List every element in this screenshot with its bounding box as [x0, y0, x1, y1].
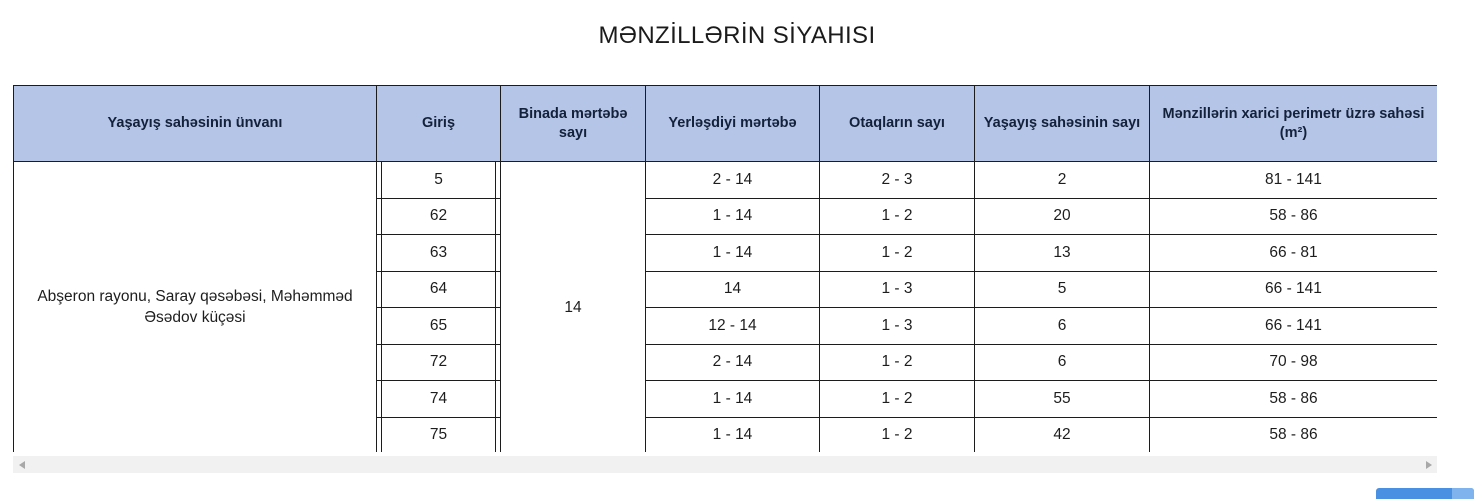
entry-value: 5 — [381, 161, 496, 199]
cell-entry: 72 — [377, 344, 501, 381]
cell-room-count: 2 - 3 — [820, 162, 975, 199]
cell-room-count: 1 - 2 — [820, 344, 975, 381]
cell-unit-count: 20 — [975, 198, 1150, 235]
scroll-left-arrow-icon[interactable] — [13, 456, 30, 473]
column-header-address[interactable]: Yaşayış sahəsinin ünvanı — [14, 86, 377, 162]
entry-value: 72 — [381, 344, 496, 382]
cell-located-floor: 14 — [646, 271, 820, 308]
cell-entry: 5 — [377, 162, 501, 199]
cell-room-count: 1 - 3 — [820, 271, 975, 308]
entry-value: 75 — [381, 417, 496, 453]
cell-outer-area: 66 - 141 — [1150, 271, 1438, 308]
cell-unit-count: 6 — [975, 344, 1150, 381]
cell-unit-count: 2 — [975, 162, 1150, 199]
entry-value: 74 — [381, 380, 496, 418]
cell-located-floor: 2 - 14 — [646, 162, 820, 199]
cell-unit-count: 6 — [975, 308, 1150, 345]
cell-room-count: 1 - 2 — [820, 235, 975, 272]
entry-value: 62 — [381, 198, 496, 236]
cell-building-floors: 14 — [501, 162, 646, 453]
cell-entry: 65 — [377, 308, 501, 345]
table-header-row: Yaşayış sahəsinin ünvanı Giriş Binada mə… — [14, 86, 1438, 162]
cell-unit-count: 5 — [975, 271, 1150, 308]
cell-located-floor: 2 - 14 — [646, 344, 820, 381]
cell-room-count: 1 - 2 — [820, 198, 975, 235]
entry-value: 65 — [381, 307, 496, 345]
table-header: Yaşayış sahəsinin ünvanı Giriş Binada mə… — [14, 86, 1438, 162]
scrollbar-thumb[interactable] — [30, 456, 1420, 473]
cell-located-floor: 1 - 14 — [646, 381, 820, 418]
cell-located-floor: 12 - 14 — [646, 308, 820, 345]
column-header-located-floor[interactable]: Yerləşdiyi mərtəbə — [646, 86, 820, 162]
table-row[interactable]: Abşeron rayonu, Saray qəsəbəsi, Məhəmməd… — [14, 162, 1438, 199]
primary-action-button[interactable] — [1376, 488, 1474, 499]
cell-outer-area: 81 - 141 — [1150, 162, 1438, 199]
entry-value: 64 — [381, 271, 496, 309]
cell-unit-count: 42 — [975, 417, 1150, 452]
cell-room-count: 1 - 2 — [820, 381, 975, 418]
table-body: Abşeron rayonu, Saray qəsəbəsi, Məhəmməd… — [14, 162, 1438, 453]
cell-room-count: 1 - 3 — [820, 308, 975, 345]
scroll-right-arrow-icon[interactable] — [1420, 456, 1437, 473]
cell-unit-count: 13 — [975, 235, 1150, 272]
horizontal-scrollbar[interactable] — [13, 455, 1437, 473]
cell-entry: 62 — [377, 198, 501, 235]
cell-outer-area: 66 - 141 — [1150, 308, 1438, 345]
cell-outer-area: 58 - 86 — [1150, 417, 1438, 452]
cell-located-floor: 1 - 14 — [646, 198, 820, 235]
cell-room-count: 1 - 2 — [820, 417, 975, 452]
column-header-unit-count[interactable]: Yaşayış sahəsinin sayı — [975, 86, 1150, 162]
cell-located-floor: 1 - 14 — [646, 235, 820, 272]
column-header-entry[interactable]: Giriş — [377, 86, 501, 162]
column-header-building-floors[interactable]: Binada mərtəbə sayı — [501, 86, 646, 162]
cell-located-floor: 1 - 14 — [646, 417, 820, 452]
cell-entry: 63 — [377, 235, 501, 272]
cell-unit-count: 55 — [975, 381, 1150, 418]
cell-outer-area: 66 - 81 — [1150, 235, 1438, 272]
column-header-room-count[interactable]: Otaqların sayı — [820, 86, 975, 162]
cell-address: Abşeron rayonu, Saray qəsəbəsi, Məhəmməd… — [14, 162, 377, 453]
table-scroll-viewport[interactable]: Yaşayış sahəsinin ünvanı Giriş Binada mə… — [13, 85, 1437, 452]
apartments-table: Yaşayış sahəsinin ünvanı Giriş Binada mə… — [13, 85, 1437, 452]
column-header-outer-area[interactable]: Mənzillərin xarici perimetr üzrə sahəsi … — [1150, 86, 1438, 162]
entry-value: 63 — [381, 234, 496, 272]
page-title: MƏNZİLLƏRİN SİYAHISI — [0, 0, 1474, 42]
cell-entry: 64 — [377, 271, 501, 308]
cell-outer-area: 70 - 98 — [1150, 344, 1438, 381]
cell-outer-area: 58 - 86 — [1150, 198, 1438, 235]
cell-outer-area: 58 - 86 — [1150, 381, 1438, 418]
cell-entry: 74 — [377, 381, 501, 418]
cell-entry: 75 — [377, 417, 501, 452]
